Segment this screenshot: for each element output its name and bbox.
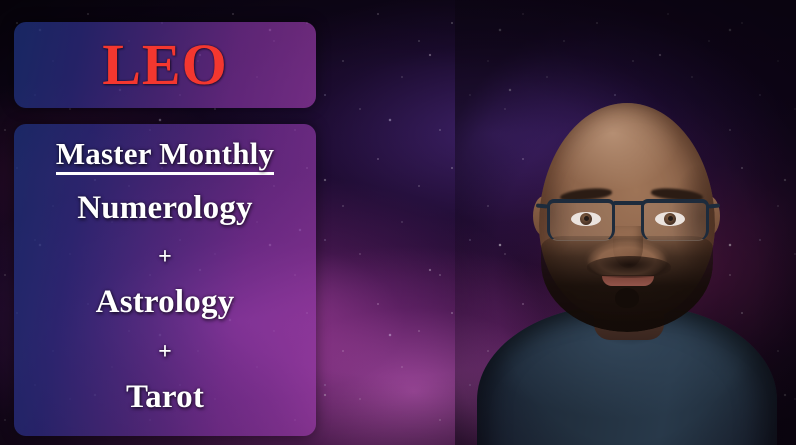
reading-item-numerology: Numerology [77, 191, 253, 226]
chin-patch [615, 288, 639, 308]
presenter-portrait [455, 0, 796, 445]
plus-separator-2: + [158, 340, 172, 364]
reading-item-tarot: Tarot [126, 380, 204, 415]
reading-heading: Master Monthly [56, 138, 274, 175]
zodiac-sign-title: LEO [102, 36, 228, 94]
mustache [587, 256, 671, 278]
zodiac-sign-panel: LEO [14, 22, 316, 108]
reading-contents-panel: Master Monthly Numerology + Astrology + … [14, 124, 316, 436]
thumbnail-canvas: LEO Master Monthly Numerology + Astrolog… [0, 0, 796, 445]
eyeglasses-icon [547, 199, 709, 245]
glasses-lens-left [547, 199, 615, 241]
reading-item-astrology: Astrology [96, 285, 235, 320]
glasses-bridge [613, 201, 645, 205]
glasses-lens-right [641, 199, 709, 241]
plus-separator-1: + [158, 245, 172, 269]
